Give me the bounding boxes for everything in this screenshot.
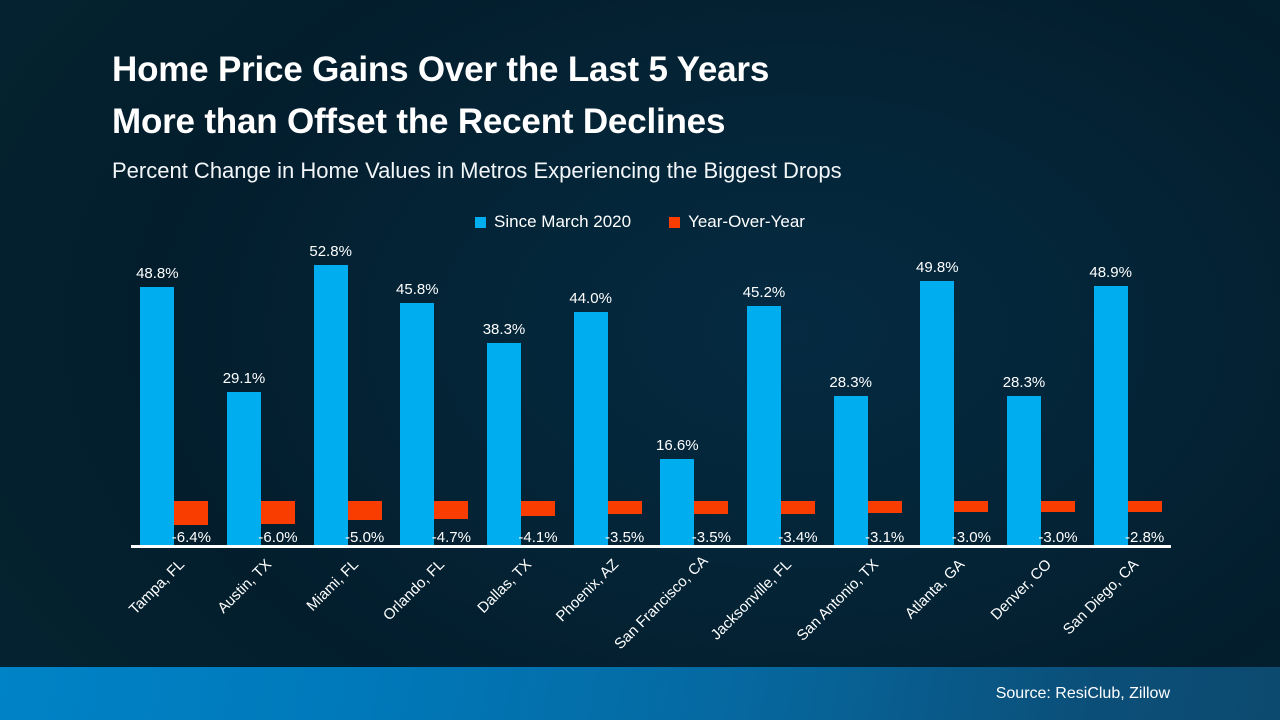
- category-label: Miami, FL: [265, 556, 362, 653]
- category-label: Dallas, TX: [438, 556, 535, 653]
- title-block: Home Price Gains Over the Last 5 Years M…: [112, 44, 1172, 185]
- legend-swatch-icon: [475, 217, 486, 228]
- chart-slide: Home Price Gains Over the Last 5 Years M…: [0, 0, 1280, 720]
- bar-year-over-year[interactable]: [1128, 501, 1162, 512]
- category-label: Denver, CO: [958, 556, 1055, 653]
- bar-year-over-year[interactable]: [521, 501, 555, 516]
- page-subtitle: Percent Change in Home Values in Metros …: [112, 157, 1172, 185]
- category-label: Jacksonville, FL: [698, 556, 795, 653]
- legend-swatch-icon: [669, 217, 680, 228]
- bar-year-over-year[interactable]: [348, 501, 382, 520]
- category-label: Atlanta, GA: [871, 556, 968, 653]
- page-title-line-1: Home Price Gains Over the Last 5 Years: [112, 44, 1172, 96]
- bar-value-label: -3.0%: [936, 529, 1006, 546]
- legend-item-year-over-year[interactable]: Year-Over-Year: [669, 212, 805, 232]
- bar-year-over-year[interactable]: [608, 501, 642, 514]
- bar-value-label: -3.4%: [763, 529, 833, 546]
- bar-value-label: 44.0%: [556, 290, 626, 307]
- chart-legend: Since March 2020Year-Over-Year: [0, 212, 1280, 232]
- bar-year-over-year[interactable]: [868, 501, 902, 513]
- category-label: San Diego, CA: [1045, 556, 1142, 653]
- page-title-line-2: More than Offset the Recent Declines: [112, 96, 1172, 148]
- bar-value-label: 38.3%: [469, 321, 539, 338]
- bar-value-label: 28.3%: [989, 374, 1059, 391]
- bar-value-label: 48.9%: [1076, 264, 1146, 281]
- bar-value-label: -6.4%: [156, 529, 226, 546]
- bar-value-label: 16.6%: [642, 437, 712, 454]
- bar-year-over-year[interactable]: [434, 501, 468, 519]
- category-label: San Antonio, TX: [785, 556, 882, 653]
- bar-year-over-year[interactable]: [1041, 501, 1075, 512]
- category-label: Phoenix, AZ: [525, 556, 622, 653]
- legend-item-since-march-2020[interactable]: Since March 2020: [475, 212, 631, 232]
- bar-value-label: 48.8%: [122, 265, 192, 282]
- bar-year-over-year[interactable]: [261, 501, 295, 524]
- bar-value-label: 49.8%: [902, 259, 972, 276]
- category-label: San Francisco, CA: [611, 556, 708, 653]
- source-attribution: Source: ResiClub, Zillow: [996, 685, 1170, 703]
- category-label: Tampa, FL: [91, 556, 188, 653]
- bar-value-label: -2.8%: [1110, 529, 1180, 546]
- bar-value-label: 45.8%: [382, 281, 452, 298]
- bar-value-label: -3.5%: [676, 529, 746, 546]
- legend-label: Since March 2020: [494, 212, 631, 232]
- bar-value-label: 29.1%: [209, 370, 279, 387]
- bar-value-label: -3.5%: [590, 529, 660, 546]
- bar-year-over-year[interactable]: [174, 501, 208, 525]
- bar-value-label: -3.0%: [1023, 529, 1093, 546]
- bar-value-label: 28.3%: [816, 374, 886, 391]
- legend-label: Year-Over-Year: [688, 212, 805, 232]
- zero-axis-line: [131, 545, 1171, 548]
- bar-value-label: -4.1%: [503, 529, 573, 546]
- negative-bars-area: -6.4%-6.0%-5.0%-4.7%-4.1%-3.5%-3.5%-3.4%…: [131, 501, 1171, 561]
- category-label: Orlando, FL: [351, 556, 448, 653]
- bar-value-label: -3.1%: [850, 529, 920, 546]
- bar-value-label: -5.0%: [330, 529, 400, 546]
- category-label: Austin, TX: [178, 556, 275, 653]
- bar-value-label: 52.8%: [296, 243, 366, 260]
- bar-year-over-year[interactable]: [954, 501, 988, 512]
- bar-value-label: -6.0%: [243, 529, 313, 546]
- footer-bar: Source: ResiClub, Zillow: [0, 667, 1280, 720]
- bar-value-label: -4.7%: [416, 529, 486, 546]
- category-axis-labels: Tampa, FLAustin, TXMiami, FLOrlando, FLD…: [131, 556, 1171, 656]
- bar-value-label: 45.2%: [729, 284, 799, 301]
- bar-year-over-year[interactable]: [694, 501, 728, 514]
- bar-year-over-year[interactable]: [781, 501, 815, 514]
